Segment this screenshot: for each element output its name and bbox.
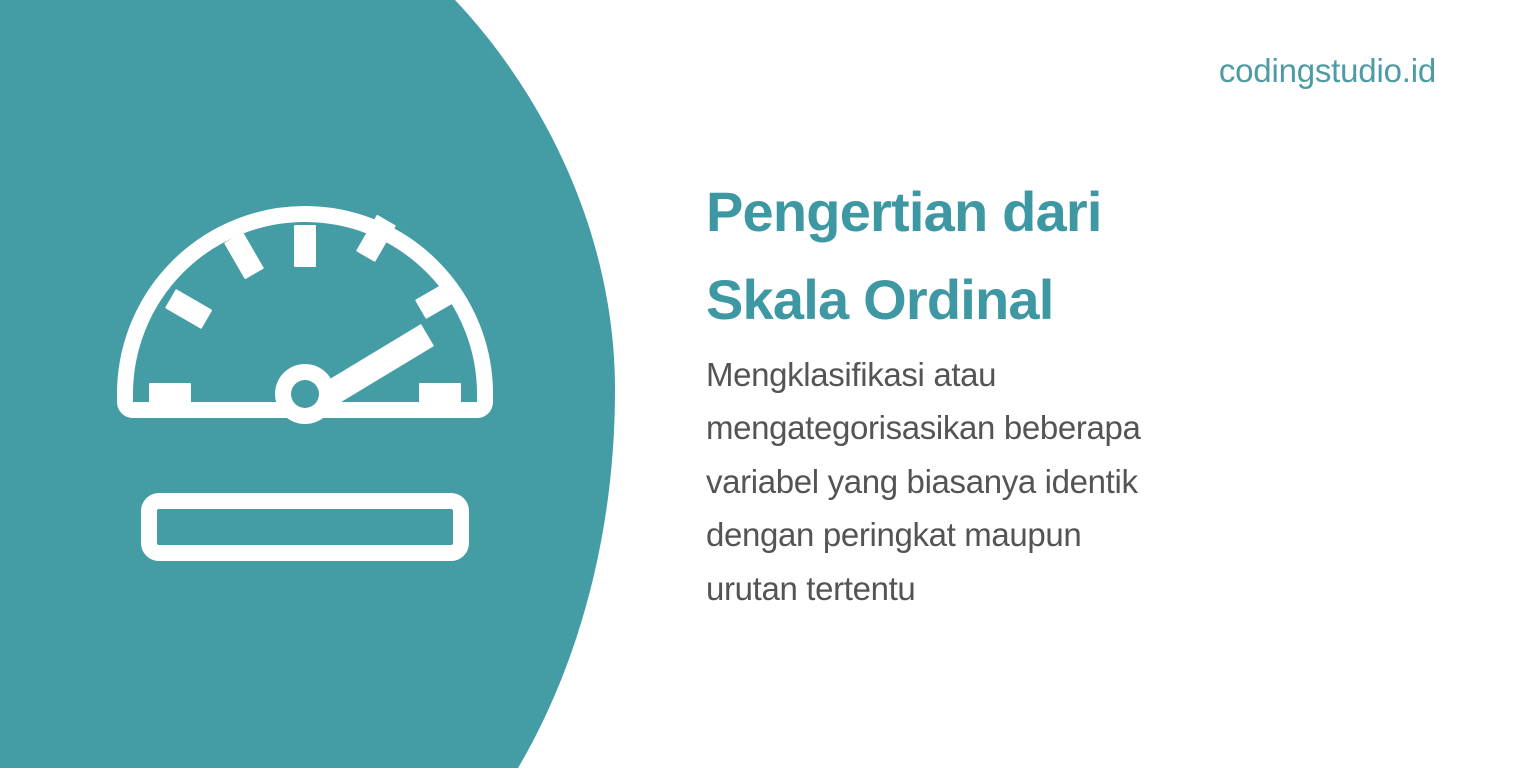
- definition-line-5: urutan tertentu: [706, 562, 1366, 615]
- page-title-line-2: Skala Ordinal: [706, 256, 1406, 344]
- infographic-canvas: codingstudio.id Pengertian dari Skala Or…: [0, 0, 1536, 768]
- gauge-tick-4: [294, 225, 316, 267]
- gauge-icon-svg: [105, 196, 505, 572]
- page-title: Pengertian dari Skala Ordinal: [706, 168, 1406, 345]
- gauge-center-hub: [275, 364, 335, 424]
- speedometer-gauge-icon: [105, 196, 505, 572]
- brand-wordmark: codingstudio.id: [1219, 51, 1436, 91]
- definition-line-1: Mengklasifikasi atau: [706, 348, 1366, 401]
- definition-line-2: mengategorisasikan beberapa: [706, 401, 1366, 454]
- content-column: codingstudio.id Pengertian dari Skala Or…: [706, 0, 1486, 768]
- gauge-base-bar: [149, 501, 461, 553]
- page-title-line-1: Pengertian dari: [706, 168, 1406, 256]
- gauge-tick-2: [165, 289, 212, 329]
- gauge-tick-1: [149, 383, 191, 405]
- definition-paragraph: Mengklasifikasi atau mengategorisasikan …: [706, 348, 1366, 615]
- gauge-tick-7: [419, 383, 461, 405]
- definition-line-4: dengan peringkat maupun: [706, 508, 1366, 561]
- definition-line-3: variabel yang biasanya identik: [706, 455, 1366, 508]
